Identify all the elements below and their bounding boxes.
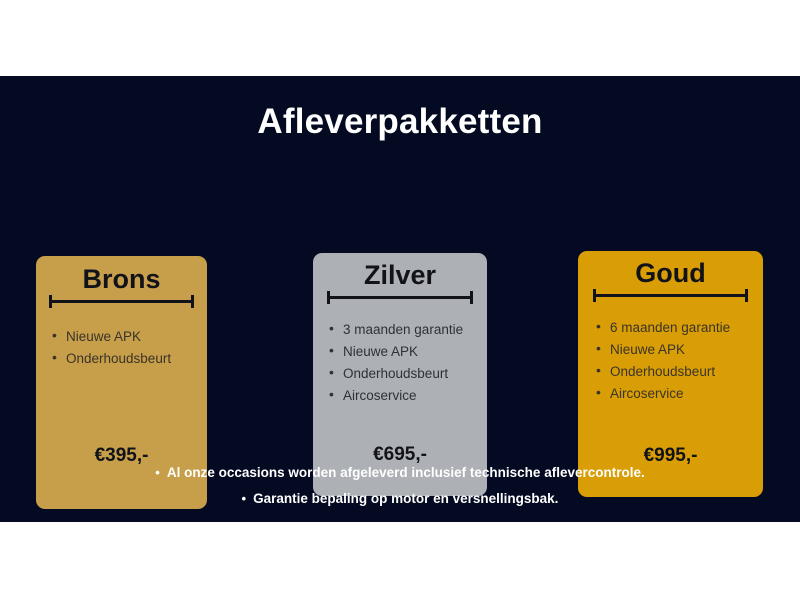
footer-note: •Al onze occasions worden afgeleverd inc… — [0, 460, 800, 486]
title-divider-zilver — [327, 291, 473, 303]
list-item: 3 maanden garantie — [327, 320, 487, 339]
footer-note-text: Al onze occasions worden afgeleverd incl… — [167, 465, 645, 480]
package-title-goud: Goud — [578, 259, 763, 287]
divider-cap-right-icon — [191, 295, 194, 308]
package-title-zilver: Zilver — [313, 261, 487, 289]
list-item: Onderhoudsbeurt — [594, 362, 763, 381]
list-item: Aircoservice — [327, 386, 487, 405]
list-item: 6 maanden garantie — [594, 318, 763, 337]
page-title: Afleverpakketten — [0, 102, 800, 142]
list-item: Nieuwe APK — [327, 342, 487, 361]
divider-cap-right-icon — [470, 291, 473, 304]
footer-note-text: Garantie bepaling op motor en versnellin… — [253, 491, 558, 506]
feature-list-brons: Nieuwe APK Onderhoudsbeurt — [50, 327, 207, 368]
footer-notes: •Al onze occasions worden afgeleverd inc… — [0, 460, 800, 512]
divider-cap-right-icon — [745, 289, 748, 302]
list-item: Nieuwe APK — [50, 327, 207, 346]
list-item: Nieuwe APK — [594, 340, 763, 359]
bullet-icon: • — [242, 491, 247, 506]
slide-background: Afleverpakketten Brons Nieuwe APK Onderh… — [0, 76, 800, 522]
footer-note: •Garantie bepaling op motor en versnelli… — [0, 486, 800, 512]
title-divider-brons — [49, 295, 194, 307]
bullet-icon: • — [155, 465, 160, 480]
list-item: Onderhoudsbeurt — [327, 364, 487, 383]
list-item: Aircoservice — [594, 384, 763, 403]
package-title-brons: Brons — [36, 265, 207, 293]
slide-canvas: Afleverpakketten Brons Nieuwe APK Onderh… — [0, 0, 800, 600]
feature-list-zilver: 3 maanden garantie Nieuwe APK Onderhouds… — [327, 320, 487, 405]
divider-bar-icon — [327, 296, 473, 299]
divider-bar-icon — [49, 300, 194, 303]
title-divider-goud — [593, 289, 748, 301]
divider-bar-icon — [593, 294, 748, 297]
feature-list-goud: 6 maanden garantie Nieuwe APK Onderhouds… — [594, 318, 763, 403]
list-item: Onderhoudsbeurt — [50, 349, 207, 368]
